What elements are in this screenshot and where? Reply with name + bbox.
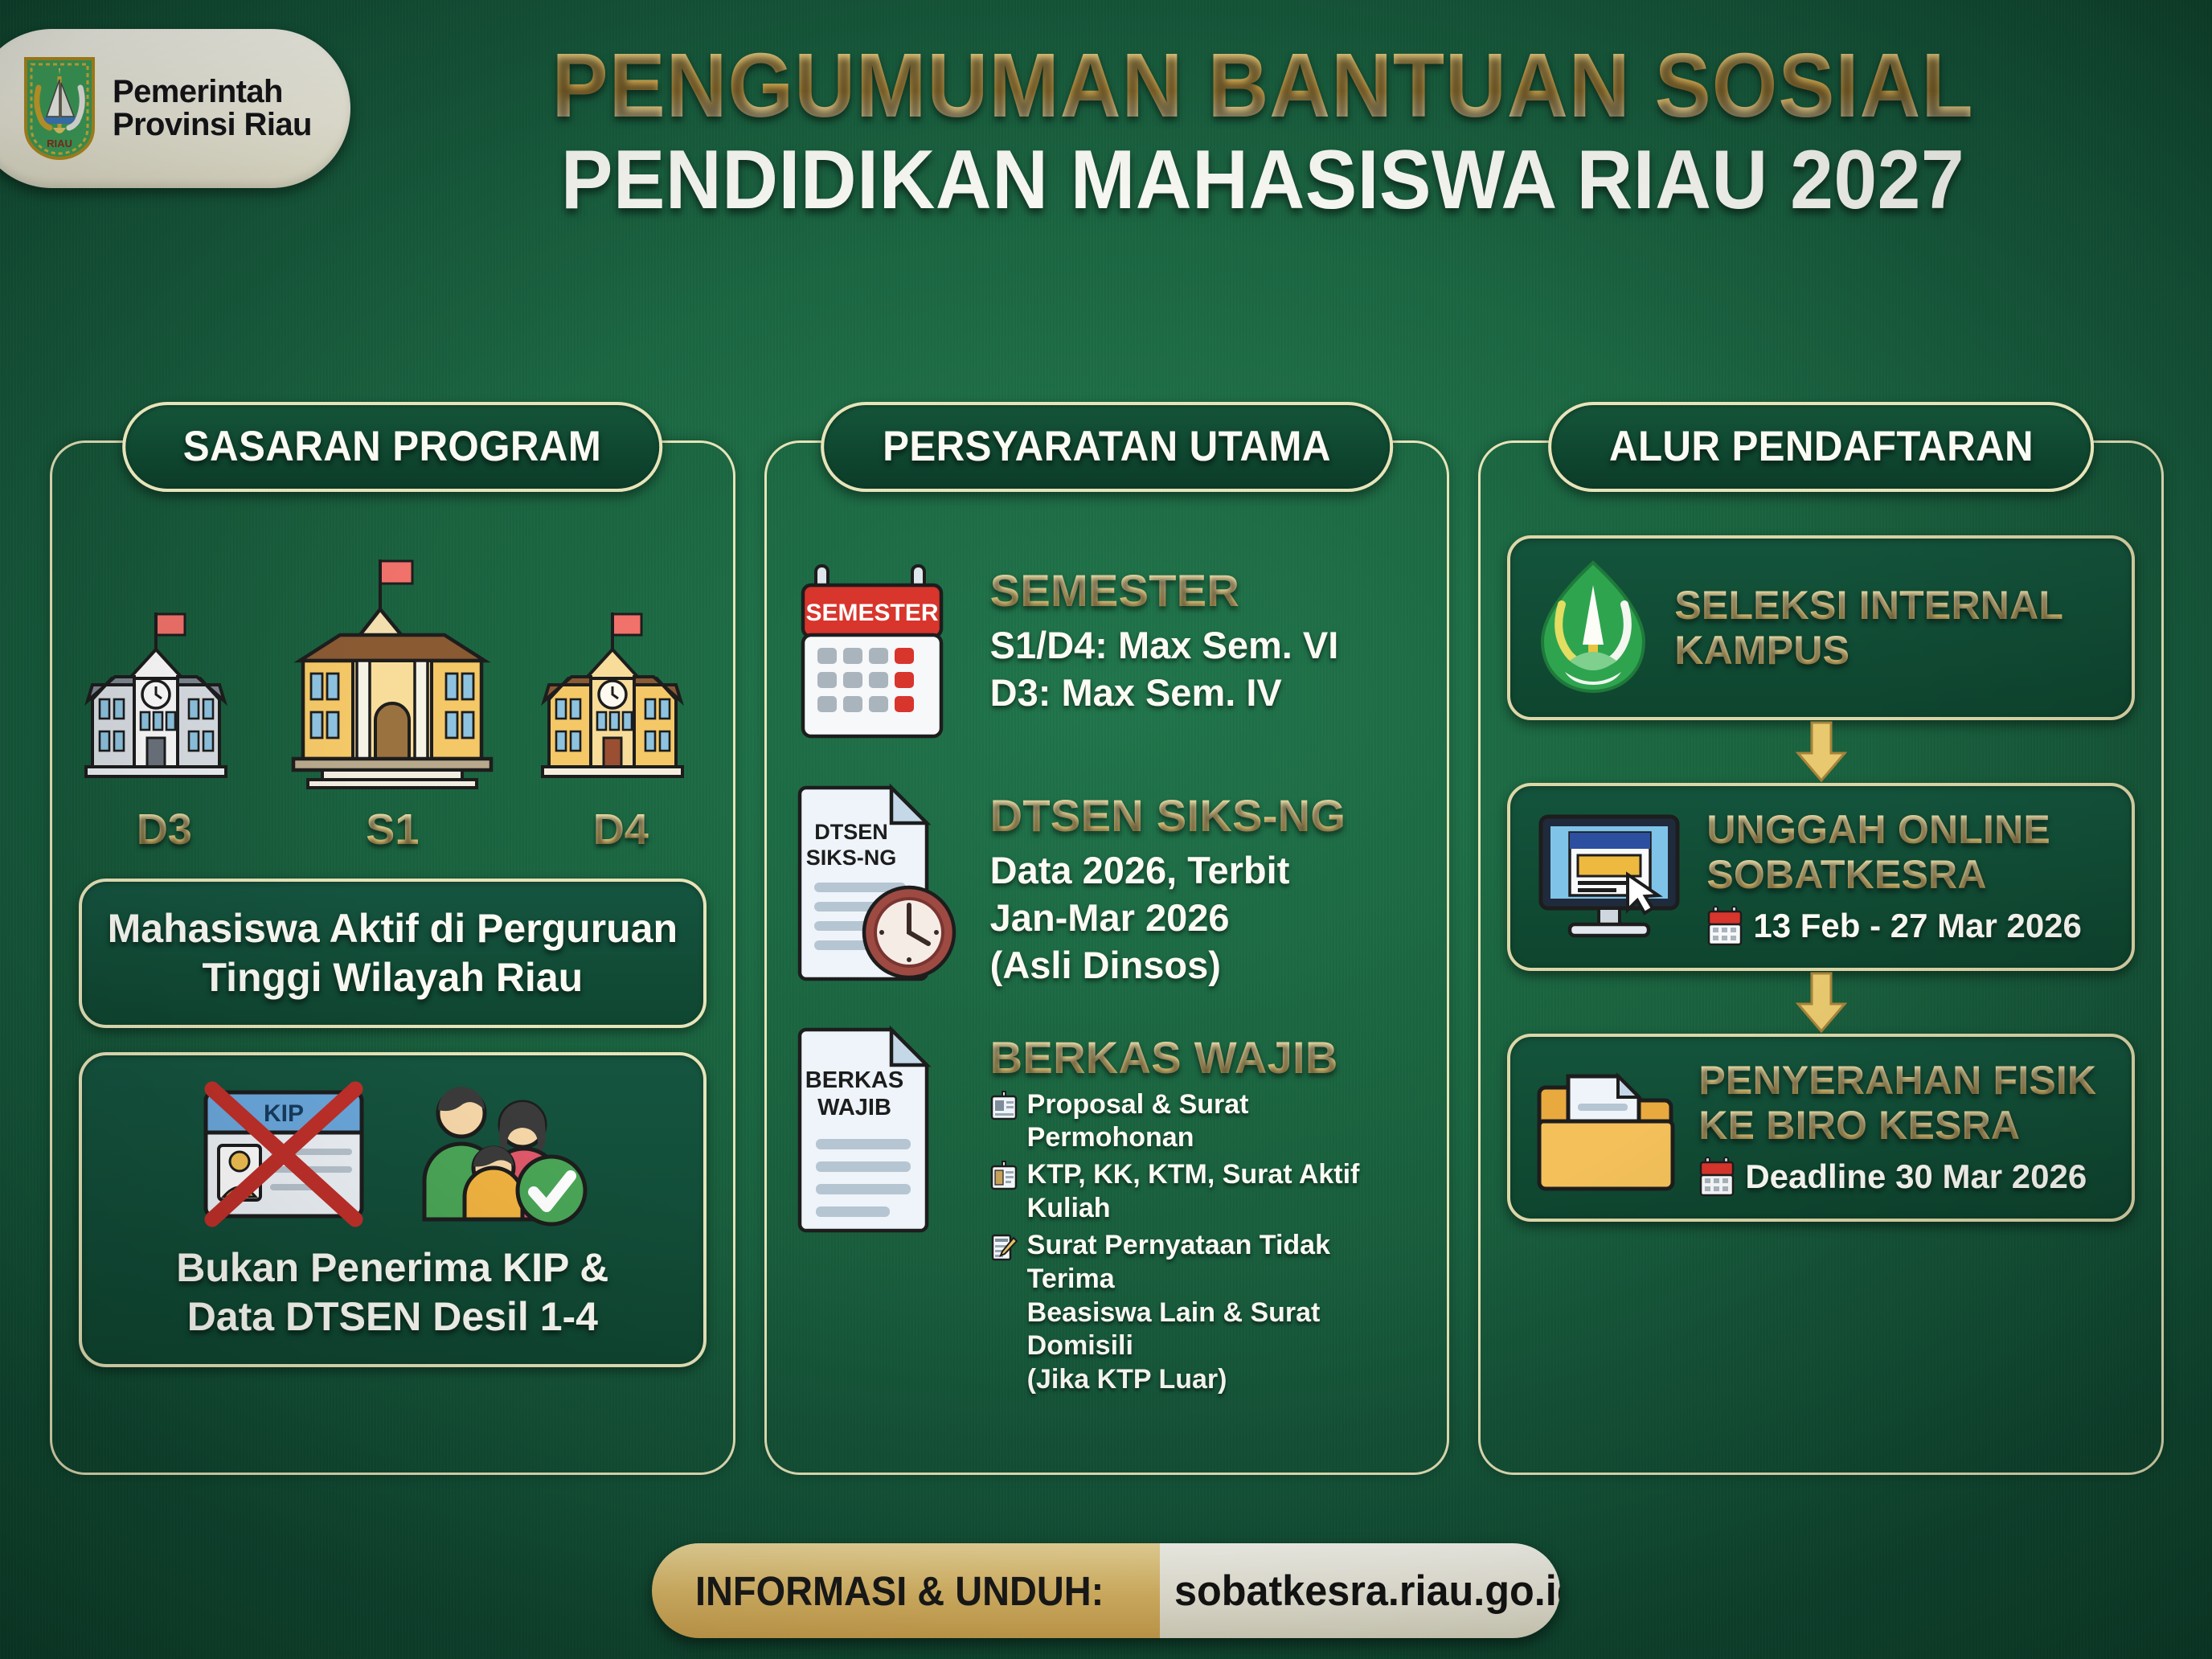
document-list-icon: BERKAS WAJIB — [793, 1022, 966, 1235]
info-card-mahasiswa-aktif: Mahasiswa Aktif di Perguruan Tinggi Wila… — [79, 879, 707, 1028]
requirement-title: SEMESTER — [990, 564, 1339, 616]
riau-provincial-emblem-icon: RIAU — [21, 55, 98, 162]
logo-text-block: Pemerintah Provinsi Riau — [113, 76, 312, 141]
requirement-dtsen: DTSEN SIKS-NG DTSEN SIKS-NG Data 2 — [793, 780, 1421, 989]
flow-step-title-line-2: KE BIRO KESRA — [1698, 1103, 2109, 1148]
svg-text:DTSEN: DTSEN — [814, 820, 888, 844]
kip-card-line-1: Bukan Penerima KIP & — [103, 1243, 682, 1292]
requirement-semester: SEMESTER — [793, 555, 1421, 748]
footer-label: INFORMASI & UNDUH: — [695, 1567, 1104, 1615]
column-body: SELEKSI INTERNAL KAMPUS — [1478, 440, 2164, 1475]
school-icons-row: D3 — [79, 556, 707, 854]
flow-step-date-label: Deadline 30 Mar 2026 — [1745, 1157, 2087, 1196]
flow-step-date: 13 Feb - 27 Mar 2026 — [1706, 905, 2109, 947]
requirement-line-2: Jan-Mar 2026 — [990, 894, 1346, 941]
school-label-s1: S1 — [276, 805, 509, 854]
flow-step-title-line-2: SOBATKESRA — [1706, 852, 2109, 897]
column-alur-pendaftaran: ALUR PENDAFTARAN SELEKSI INTERNAL — [1478, 402, 2164, 1475]
flow-step-body: SELEKSI INTERNAL KAMPUS — [1674, 583, 2109, 673]
flow-step-date-label: 13 Feb - 27 Mar 2026 — [1753, 907, 2082, 945]
column-body: SEMESTER — [764, 440, 1450, 1475]
column-heading-label: SASARAN PROGRAM — [183, 422, 601, 471]
logo-line-1: Pemerintah — [113, 76, 312, 109]
kip-card-crossed-out-icon: KIP — [191, 1078, 376, 1231]
berkas-bullet-continuation-2: (Jika KTP Luar) — [990, 1363, 1421, 1397]
page-title: PENGUMUMAN BANTUAN SOSIAL PENDIDIKAN MAH… — [346, 39, 2180, 225]
flow-step-title-line-1: SELEKSI INTERNAL — [1674, 583, 2109, 628]
kip-icons-row: KIP — [103, 1078, 682, 1231]
svg-text:RIAU: RIAU — [47, 137, 72, 150]
footer-url[interactable]: sobatkesra.riau.go.id — [1174, 1567, 1560, 1616]
calendar-small-icon — [1698, 1156, 1735, 1198]
arrow-down-icon — [1792, 972, 1851, 1033]
flow-arrow-1 — [1792, 720, 1851, 783]
document-clock-icon: DTSEN SIKS-NG — [793, 780, 966, 985]
flow-step-title-line-1: PENYERAHAN FISIK — [1698, 1058, 2109, 1103]
svg-text:BERKAS: BERKAS — [805, 1067, 903, 1093]
flow-step-date: Deadline 30 Mar 2026 — [1698, 1156, 2109, 1198]
svg-text:KIP: KIP — [264, 1100, 304, 1127]
registration-flow: SELEKSI INTERNAL KAMPUS — [1507, 535, 2135, 1222]
requirement-text: BERKAS WAJIB Proposal & Surat Permohonan — [990, 1022, 1421, 1397]
school-item-s1: S1 — [276, 556, 509, 854]
university-building-icon — [276, 556, 509, 789]
footer-info-banner[interactable]: INFORMASI & UNDUH: sobatkesra.riau.go.id — [652, 1543, 1560, 1638]
flow-arrow-2 — [1792, 971, 1851, 1034]
svg-text:SEMESTER: SEMESTER — [805, 600, 938, 626]
campus-emblem-icon — [1533, 559, 1653, 696]
flow-step-title-line-1: UNGGAH ONLINE — [1706, 807, 2109, 852]
school-item-d3: D3 — [80, 604, 248, 854]
flow-step-body: UNGGAH ONLINE SOBATKESRA 13 F — [1706, 807, 2109, 947]
title-line-2: PENDIDIKAN MAHASISWA RIAU 2027 — [410, 137, 2116, 224]
government-logo-badge: RIAU Pemerintah Provinsi Riau — [0, 29, 350, 188]
requirement-berkas-wajib: BERKAS WAJIB BERKAS WAJIB — [793, 1022, 1421, 1397]
column-header-sasaran-program: SASARAN PROGRAM — [123, 402, 663, 492]
flow-step-unggah-online: UNGGAH ONLINE SOBATKESRA 13 F — [1507, 783, 2135, 971]
berkas-bullet-3: Surat Pernyataan Tidak Terima — [990, 1229, 1421, 1296]
column-heading-label: ALUR PENDAFTARAN — [1609, 422, 2034, 471]
school-building-yellow-icon — [536, 604, 705, 789]
school-label-d4: D4 — [536, 805, 705, 854]
logo-line-2: Provinsi Riau — [113, 109, 312, 141]
svg-text:SIKS-NG: SIKS-NG — [805, 846, 896, 870]
requirement-line-3: (Asli Dinsos) — [990, 941, 1346, 989]
family-approved-icon — [408, 1078, 593, 1231]
flow-step-body: PENYERAHAN FISIK KE BIRO KESRA — [1698, 1058, 2109, 1198]
monitor-upload-icon — [1533, 812, 1686, 942]
flow-step-seleksi-internal: SELEKSI INTERNAL KAMPUS — [1507, 535, 2135, 720]
requirement-line-2: D3: Max Sem. IV — [990, 669, 1339, 716]
berkas-bullet-label: Surat Pernyataan Tidak Terima — [1027, 1229, 1421, 1296]
folder-document-icon — [1533, 1062, 1677, 1194]
school-building-grey-icon — [80, 604, 248, 789]
memo-pen-icon — [990, 1231, 1018, 1262]
id-card-icon — [990, 1161, 1018, 1191]
column-heading-label: PERSYARATAN UTAMA — [883, 422, 1331, 471]
kip-card-line-2: Data DTSEN Desil 1-4 — [103, 1292, 682, 1342]
svg-text:WAJIB: WAJIB — [817, 1095, 891, 1120]
school-item-d4: D4 — [536, 604, 705, 854]
id-badge-icon — [990, 1091, 1018, 1121]
requirement-line-1: Data 2026, Terbit — [990, 846, 1346, 894]
berkas-bullet-2: KTP, KK, KTM, Surat Aktif Kuliah — [990, 1158, 1421, 1226]
requirement-text: SEMESTER S1/D4: Max Sem. VI D3: Max Sem.… — [990, 555, 1339, 716]
column-sasaran-program: SASARAN PROGRAM — [50, 402, 735, 1475]
column-persyaratan-utama: PERSYARATAN UTAMA SEMESTER — [764, 402, 1450, 1475]
requirement-title: DTSEN SIKS-NG — [990, 789, 1346, 842]
column-header-persyaratan-utama: PERSYARATAN UTAMA — [821, 402, 1393, 492]
requirement-title: BERKAS WAJIB — [990, 1031, 1421, 1083]
column-body: D3 — [50, 440, 735, 1475]
calendar-small-icon — [1706, 905, 1743, 947]
flow-step-penyerahan-fisik: PENYERAHAN FISIK KE BIRO KESRA — [1507, 1034, 2135, 1222]
berkas-bullet-continuation-1: Beasiswa Lain & Surat Domisili — [990, 1296, 1421, 1364]
arrow-down-icon — [1792, 721, 1851, 782]
info-card-line-1: Mahasiswa Aktif di Perguruan — [103, 904, 682, 953]
footer-label-section: INFORMASI & UNDUH: — [652, 1543, 1160, 1638]
berkas-bullet-label: Proposal & Surat Permohonan — [1027, 1088, 1421, 1156]
requirement-text: DTSEN SIKS-NG Data 2026, Terbit Jan-Mar … — [990, 780, 1346, 989]
berkas-bullet-label: KTP, KK, KTM, Surat Aktif Kuliah — [1027, 1158, 1421, 1226]
info-card-bukan-penerima-kip: KIP — [79, 1052, 707, 1367]
flow-step-title-line-2: KAMPUS — [1674, 628, 2109, 673]
title-line-1: PENGUMUMAN BANTUAN SOSIAL — [410, 39, 2116, 132]
info-card-line-2: Tinggi Wilayah Riau — [103, 953, 682, 1002]
footer-url-section[interactable]: sobatkesra.riau.go.id — [1160, 1543, 1560, 1638]
berkas-bullet-1: Proposal & Surat Permohonan — [990, 1088, 1421, 1156]
content-columns: SASARAN PROGRAM — [50, 402, 2164, 1475]
school-label-d3: D3 — [80, 805, 248, 854]
column-header-alur-pendaftaran: ALUR PENDAFTARAN — [1548, 402, 2095, 492]
requirement-line-1: S1/D4: Max Sem. VI — [990, 621, 1339, 669]
calendar-icon: SEMESTER — [793, 555, 966, 748]
